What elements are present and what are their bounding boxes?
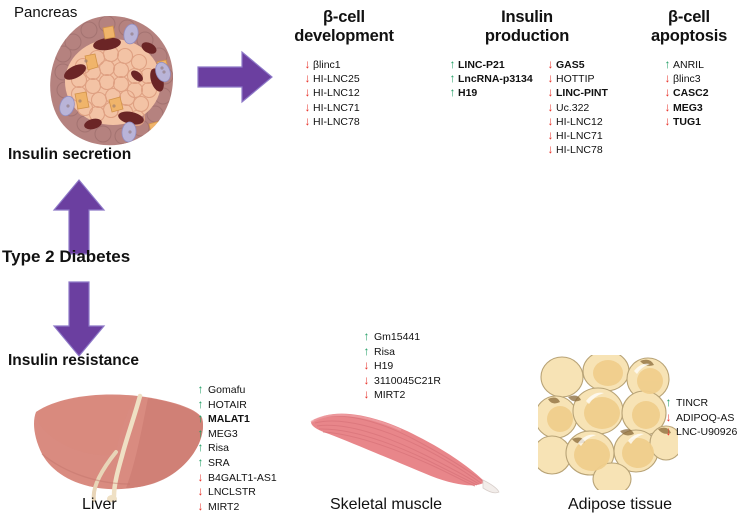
gene-name: MALAT1 bbox=[205, 413, 250, 427]
up-arrow-icon: ↑ bbox=[196, 398, 205, 411]
down-arrow-icon: ↓ bbox=[362, 374, 371, 387]
gene-list-liver: ↑Gomafu↑HOTAIR↑MALAT1↑MEG3↑Risa↑SRA↓B4GA… bbox=[196, 383, 277, 514]
gene-row: ↓LNC-U90926 bbox=[664, 425, 737, 440]
gene-name: MIRT2 bbox=[371, 389, 405, 403]
gene-row: ↓βlinc1 bbox=[303, 58, 360, 72]
gene-list-adipose-tissue: ↑TINCR↓ADIPOQ-AS↓LNC-U90926 bbox=[664, 396, 737, 440]
gene-row: ↓CASC2 bbox=[663, 86, 709, 100]
gene-row: ↑Risa bbox=[362, 345, 441, 360]
gene-row: ↑Gomafu bbox=[196, 383, 277, 398]
up-arrow-icon: ↑ bbox=[448, 72, 457, 85]
gene-name: SRA bbox=[205, 457, 230, 471]
pancreatic-islet-icon bbox=[45, 14, 177, 147]
down-arrow-icon: ↓ bbox=[664, 411, 673, 424]
panel-insulin-production: Insulin production bbox=[452, 8, 602, 46]
gene-name: HI-LNC78 bbox=[555, 144, 603, 157]
gene-row: ↑H19 bbox=[448, 86, 533, 100]
gene-name: Gomafu bbox=[205, 384, 245, 398]
gene-row: ↓HOTTIP bbox=[546, 72, 608, 86]
panel-title-line1: Insulin bbox=[452, 8, 602, 27]
gene-row: ↓3110045C21R bbox=[362, 374, 441, 389]
up-arrow-icon: ↑ bbox=[448, 86, 457, 99]
panel-title-line1: β-cell bbox=[632, 8, 746, 27]
gene-row: ↓HI-LNC25 bbox=[303, 72, 360, 86]
gene-row: ↓LINC-PINT bbox=[546, 86, 608, 100]
gene-row: ↓ADIPOQ-AS bbox=[664, 411, 737, 426]
gene-row: ↓HI-LNC12 bbox=[546, 115, 608, 129]
down-arrow-icon: ↓ bbox=[303, 115, 312, 128]
gene-row: ↑MEG3 bbox=[196, 427, 277, 442]
panel-beta-cell-development: β-cell development bbox=[281, 8, 407, 46]
insulin-resistance-label: Insulin resistance bbox=[8, 352, 139, 370]
gene-name: LNC-U90926 bbox=[673, 426, 737, 440]
gene-name: TINCR bbox=[673, 397, 708, 411]
gene-name: βlinc3 bbox=[672, 73, 701, 86]
gene-row: ↓Uc.322 bbox=[546, 101, 608, 115]
gene-name: Uc.322 bbox=[555, 102, 589, 115]
gene-row: ↓MEG3 bbox=[663, 101, 709, 115]
gene-name: TUG1 bbox=[672, 116, 701, 129]
down-arrow-icon: ↓ bbox=[546, 143, 555, 156]
gene-name: 3110045C21R bbox=[371, 375, 441, 389]
gene-name: HI-LNC12 bbox=[555, 116, 603, 129]
gene-name: HI-LNC12 bbox=[312, 87, 360, 100]
up-arrow-icon bbox=[52, 178, 106, 256]
gene-row: ↓βlinc3 bbox=[663, 72, 709, 86]
page-title: Type 2 Diabetes bbox=[2, 247, 130, 267]
panel-title-line2: production bbox=[452, 27, 602, 46]
gene-name: HI-LNC71 bbox=[555, 130, 603, 143]
gene-name: HI-LNC78 bbox=[312, 116, 360, 129]
gene-name: HI-LNC25 bbox=[312, 73, 360, 86]
gene-name: Risa bbox=[371, 346, 395, 360]
down-arrow-icon: ↓ bbox=[303, 101, 312, 114]
down-arrow-icon: ↓ bbox=[546, 72, 555, 85]
gene-name: B4GALT1-AS1 bbox=[205, 472, 277, 486]
adipose-tissue-icon bbox=[538, 355, 678, 490]
up-arrow-icon: ↑ bbox=[448, 58, 457, 71]
gene-row: ↓B4GALT1-AS1 bbox=[196, 471, 277, 486]
down-arrow-icon: ↓ bbox=[196, 471, 205, 484]
down-arrow-icon: ↓ bbox=[303, 86, 312, 99]
up-arrow-icon: ↑ bbox=[196, 441, 205, 454]
gene-row: ↓GAS5 bbox=[546, 58, 608, 72]
gene-name: ADIPOQ-AS bbox=[673, 412, 734, 426]
down-arrow-icon: ↓ bbox=[664, 425, 673, 438]
gene-row: ↓HI-LNC71 bbox=[546, 129, 608, 143]
gene-name: βlinc1 bbox=[312, 59, 341, 72]
gene-row: ↑LncRNA-p3134 bbox=[448, 72, 533, 86]
down-arrow-icon: ↓ bbox=[546, 58, 555, 71]
gene-list-insulin-production-upregulated: ↑LINC-P21↑LncRNA-p3134↑H19 bbox=[448, 58, 533, 101]
gene-row: ↓LNCLSTR bbox=[196, 485, 277, 500]
up-arrow-icon: ↑ bbox=[196, 427, 205, 440]
liver-icon bbox=[30, 392, 205, 502]
gene-name: CASC2 bbox=[672, 87, 709, 100]
gene-name: LNCLSTR bbox=[205, 486, 256, 500]
gene-name: Gm15441 bbox=[371, 331, 420, 345]
gene-row: ↑Risa bbox=[196, 441, 277, 456]
gene-row: ↓HI-LNC78 bbox=[546, 143, 608, 157]
gene-list-beta-cell-apoptosis: ↑ANRIL↓βlinc3↓CASC2↓MEG3↓TUG1 bbox=[663, 58, 709, 129]
down-arrow-icon: ↓ bbox=[196, 485, 205, 498]
right-arrow-icon bbox=[196, 50, 274, 104]
up-arrow-icon: ↑ bbox=[196, 412, 205, 425]
gene-row: ↑LINC-P21 bbox=[448, 58, 533, 72]
down-arrow-icon: ↓ bbox=[196, 500, 205, 513]
gene-name: HOTAIR bbox=[205, 399, 247, 413]
gene-row: ↓MIRT2 bbox=[196, 500, 277, 515]
gene-row: ↓HI-LNC12 bbox=[303, 86, 360, 100]
gene-name: H19 bbox=[371, 360, 393, 374]
gene-row: ↓MIRT2 bbox=[362, 388, 441, 403]
down-arrow-icon: ↓ bbox=[663, 86, 672, 99]
up-arrow-icon: ↑ bbox=[196, 456, 205, 469]
gene-row: ↑Gm15441 bbox=[362, 330, 441, 345]
down-arrow-icon: ↓ bbox=[663, 101, 672, 114]
up-arrow-icon: ↑ bbox=[196, 383, 205, 396]
down-arrow-icon: ↓ bbox=[546, 86, 555, 99]
down-arrow-icon: ↓ bbox=[362, 388, 371, 401]
down-arrow-icon: ↓ bbox=[546, 115, 555, 128]
gene-name: HI-LNC71 bbox=[312, 102, 360, 115]
insulin-secretion-label: Insulin secretion bbox=[8, 146, 131, 164]
skeletal-muscle-label: Skeletal muscle bbox=[330, 496, 442, 514]
gene-row: ↑HOTAIR bbox=[196, 398, 277, 413]
up-arrow-icon: ↑ bbox=[362, 345, 371, 358]
gene-list-insulin-production-downregulated: ↓GAS5↓HOTTIP↓LINC-PINT↓Uc.322↓HI-LNC12↓H… bbox=[546, 58, 608, 157]
gene-name: LINC-P21 bbox=[457, 59, 505, 72]
gene-list-beta-cell-development: ↓βlinc1↓HI-LNC25↓HI-LNC12↓HI-LNC71↓HI-LN… bbox=[303, 58, 360, 129]
gene-name: Risa bbox=[205, 442, 229, 456]
gene-row: ↑MALAT1 bbox=[196, 412, 277, 427]
panel-title-line2: apoptosis bbox=[632, 27, 746, 46]
down-arrow-icon: ↓ bbox=[362, 359, 371, 372]
down-arrow-icon: ↓ bbox=[303, 72, 312, 85]
gene-row: ↑TINCR bbox=[664, 396, 737, 411]
gene-name: GAS5 bbox=[555, 59, 585, 72]
gene-name: MEG3 bbox=[205, 428, 238, 442]
down-arrow-icon bbox=[52, 280, 106, 358]
down-arrow-icon: ↓ bbox=[303, 58, 312, 71]
up-arrow-icon: ↑ bbox=[663, 58, 672, 71]
up-arrow-icon: ↑ bbox=[362, 330, 371, 343]
down-arrow-icon: ↓ bbox=[546, 101, 555, 114]
gene-row: ↑ANRIL bbox=[663, 58, 709, 72]
gene-name: MIRT2 bbox=[205, 501, 239, 515]
gene-name: HOTTIP bbox=[555, 73, 595, 86]
panel-title-line2: development bbox=[281, 27, 407, 46]
panel-title-line1: β-cell bbox=[281, 8, 407, 27]
gene-name: ANRIL bbox=[672, 59, 704, 72]
gene-name: MEG3 bbox=[672, 102, 703, 115]
gene-row: ↑SRA bbox=[196, 456, 277, 471]
down-arrow-icon: ↓ bbox=[546, 129, 555, 142]
skeletal-muscle-icon bbox=[305, 400, 505, 495]
gene-row: ↓HI-LNC71 bbox=[303, 101, 360, 115]
liver-label: Liver bbox=[82, 496, 117, 514]
down-arrow-icon: ↓ bbox=[663, 115, 672, 128]
panel-beta-cell-apoptosis: β-cell apoptosis bbox=[632, 8, 746, 46]
adipose-tissue-label: Adipose tissue bbox=[568, 496, 672, 514]
gene-name: LINC-PINT bbox=[555, 87, 608, 100]
gene-row: ↓H19 bbox=[362, 359, 441, 374]
gene-name: H19 bbox=[457, 87, 477, 100]
gene-list-skeletal-muscle: ↑Gm15441↑Risa↓H19↓3110045C21R↓MIRT2 bbox=[362, 330, 441, 403]
gene-name: LncRNA-p3134 bbox=[457, 73, 533, 86]
up-arrow-icon: ↑ bbox=[664, 396, 673, 409]
down-arrow-icon: ↓ bbox=[663, 72, 672, 85]
gene-row: ↓HI-LNC78 bbox=[303, 115, 360, 129]
gene-row: ↓TUG1 bbox=[663, 115, 709, 129]
